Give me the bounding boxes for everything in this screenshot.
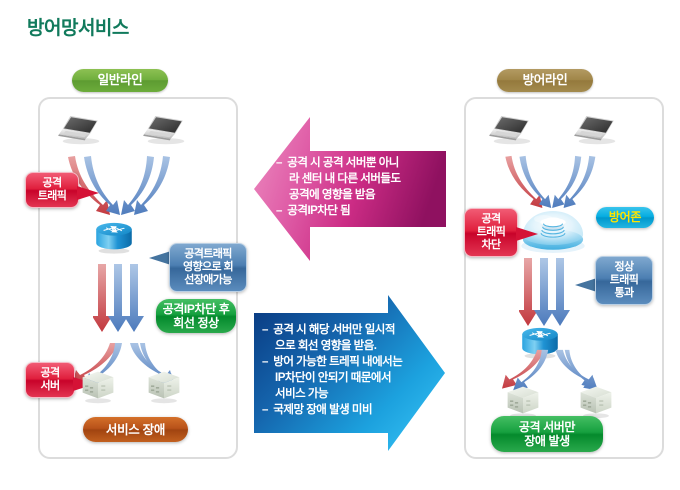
callout-attack-server-label: 공격 서버 <box>25 362 75 398</box>
laptop-icon <box>143 113 189 150</box>
laptop-icon <box>489 113 535 150</box>
diagram-canvas: 방어망서비스 일반라인 <box>0 0 680 490</box>
arrow-blue-text: – 공격 시 해당 서버만 일시적으로 회선 영향을 받음.– 방어 가능한 트… <box>262 322 442 418</box>
laptop-icon <box>58 113 104 150</box>
callout-normal-pass: 정상 트래픽 통과 <box>575 256 653 305</box>
arrow-blue-line-0: – 공격 시 해당 서버만 일시적 <box>262 322 442 338</box>
callout-attack-blocked-label: 공격 트래픽 차단 <box>464 208 518 257</box>
status-left: 서비스 장애 <box>83 417 188 442</box>
arrow-pink-line-2: 공격에 영향을 받음 <box>276 187 446 203</box>
callout-attack-blocked: 공격 트래픽 차단 <box>464 208 538 257</box>
status-right: 공격 서버만 장애 발생 <box>491 416 603 452</box>
callout-attack-traffic-label: 공격 트래픽 <box>25 172 79 208</box>
arrow-blue-line-5: – 국제망 장애 발생 미비 <box>262 402 442 418</box>
column-header-right: 방어라인 <box>497 69 593 92</box>
callout-defense-zone: 방어존 <box>596 207 654 228</box>
arrow-blue-line-3: IP차단이 안되기 때문에서 <box>262 370 442 386</box>
server-icon <box>146 370 182 409</box>
arrow-pink-line-1: 라 센터 내 다른 서버들도 <box>276 171 446 187</box>
arrow-pink-line-0: – 공격 시 공격 서버뿐 아니 <box>276 155 446 171</box>
callout-after-block: 공격IP차단 후 회선 정상 <box>156 299 236 333</box>
arrow-pink-text: – 공격 시 공격 서버뿐 아니라 센터 내 다른 서버들도공격에 영향을 받음… <box>276 155 446 219</box>
arrow-blue-line-2: – 방어 가능한 트레픽 내에서는 <box>262 354 442 370</box>
router-icon <box>518 325 562 364</box>
arrow-blue-line-4: 서비스 가능 <box>262 386 442 402</box>
callout-line-fault-label: 공격트래픽 영향으로 회 선장애가능 <box>169 243 247 292</box>
callout-line-fault: 공격트래픽 영향으로 회 선장애가능 <box>149 243 247 292</box>
column-header-left: 일반라인 <box>72 69 168 92</box>
callout-normal-pass-label: 정상 트래픽 통과 <box>595 256 653 305</box>
router-icon <box>92 220 136 259</box>
arrow-pink-line-3: – 공격IP차단 됨 <box>276 203 446 219</box>
laptop-icon <box>574 113 620 150</box>
arrow-blue-line-1: 으로 회선 영향을 받음. <box>262 338 442 354</box>
page-title: 방어망서비스 <box>27 13 129 40</box>
callout-attack-traffic-left: 공격 트래픽 <box>25 172 99 208</box>
server-icon <box>80 370 116 409</box>
